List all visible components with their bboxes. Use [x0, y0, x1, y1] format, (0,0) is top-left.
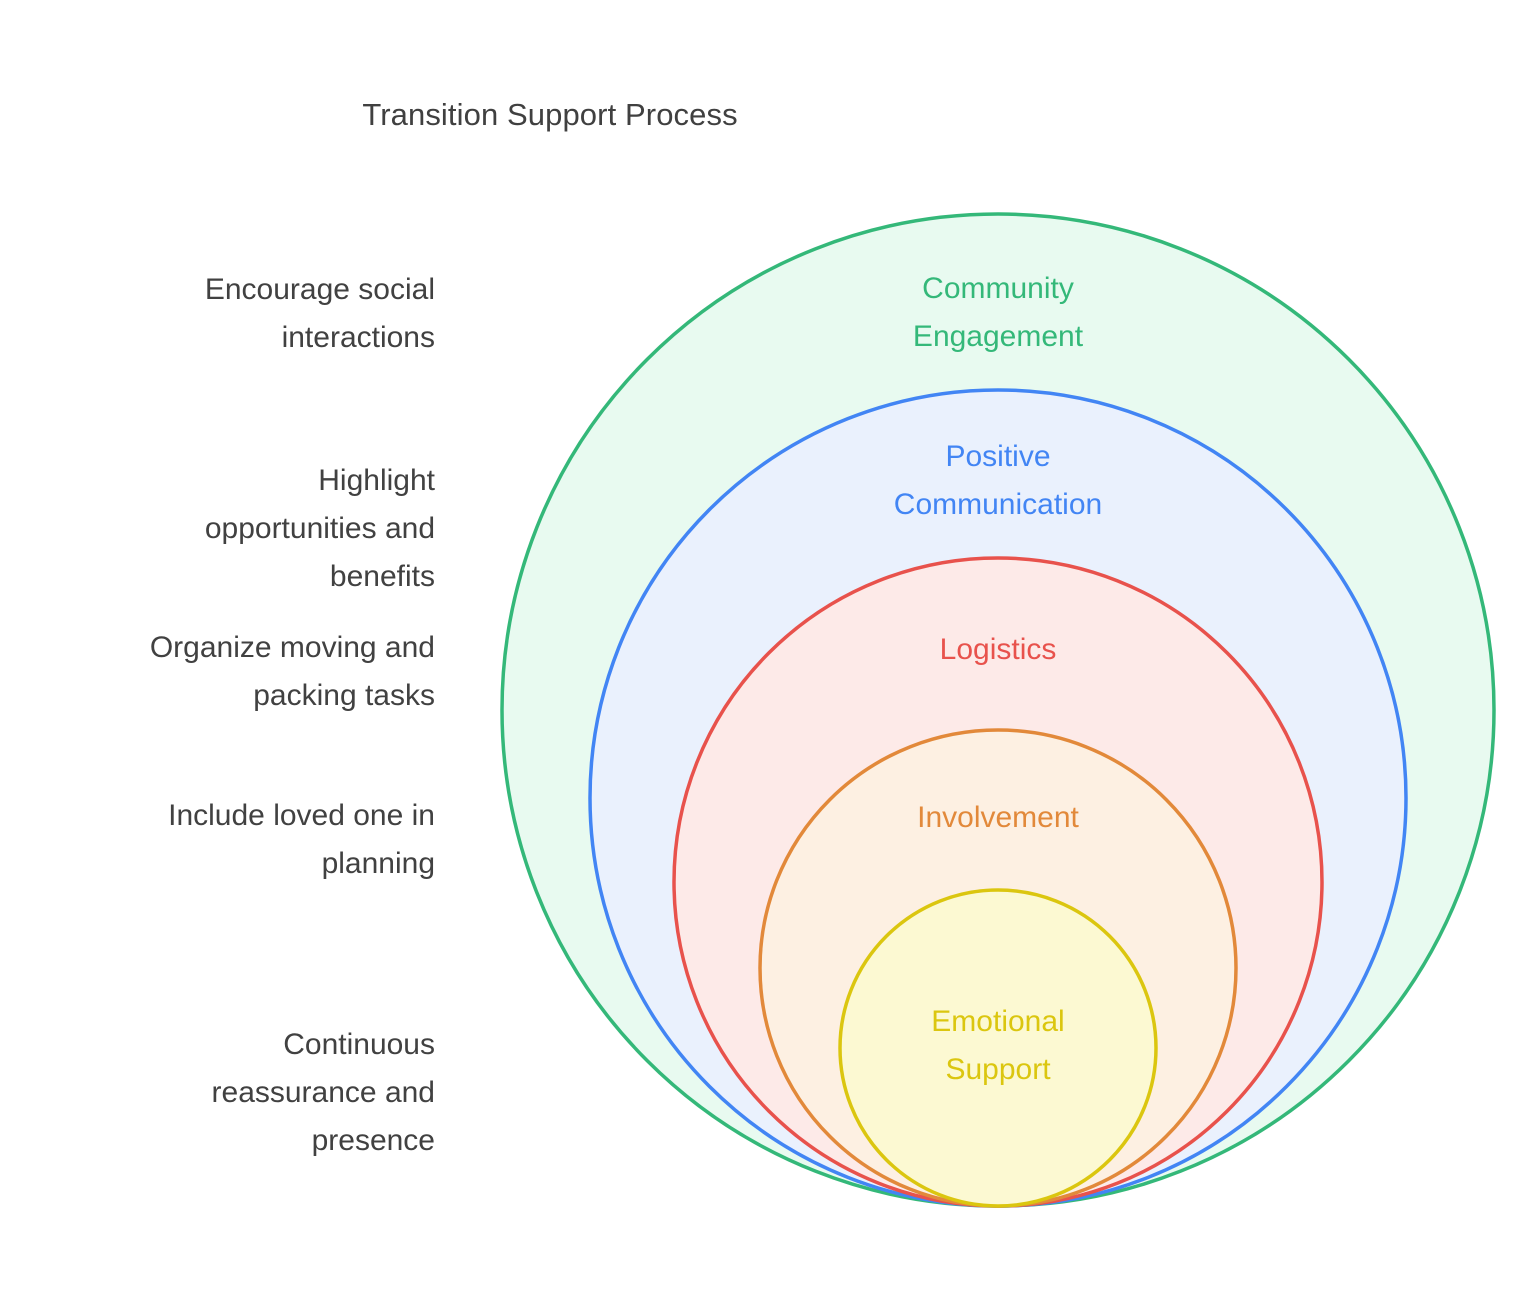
- side-label-1: Encourage social interactions: [60, 266, 435, 362]
- ring-label-logistics: Logistics: [940, 626, 1057, 674]
- side-label-3: Organize moving and packing tasks: [60, 624, 435, 720]
- ring-label-positive-communication: Positive Communication: [894, 433, 1102, 529]
- side-label-4: Include loved one in planning: [60, 792, 435, 888]
- side-label-5: Continuous reassurance and presence: [60, 1021, 435, 1165]
- ring-label-emotional-support: Emotional Support: [931, 998, 1064, 1094]
- ring-label-community-engagement: Community Engagement: [913, 265, 1083, 361]
- side-label-2: Highlight opportunities and benefits: [60, 457, 435, 601]
- diagram-canvas: Transition Support Process Encourage soc…: [0, 0, 1540, 1300]
- side-labels-column: Encourage social interactionsHighlight o…: [60, 0, 435, 1300]
- ring-label-involvement: Involvement: [917, 794, 1079, 842]
